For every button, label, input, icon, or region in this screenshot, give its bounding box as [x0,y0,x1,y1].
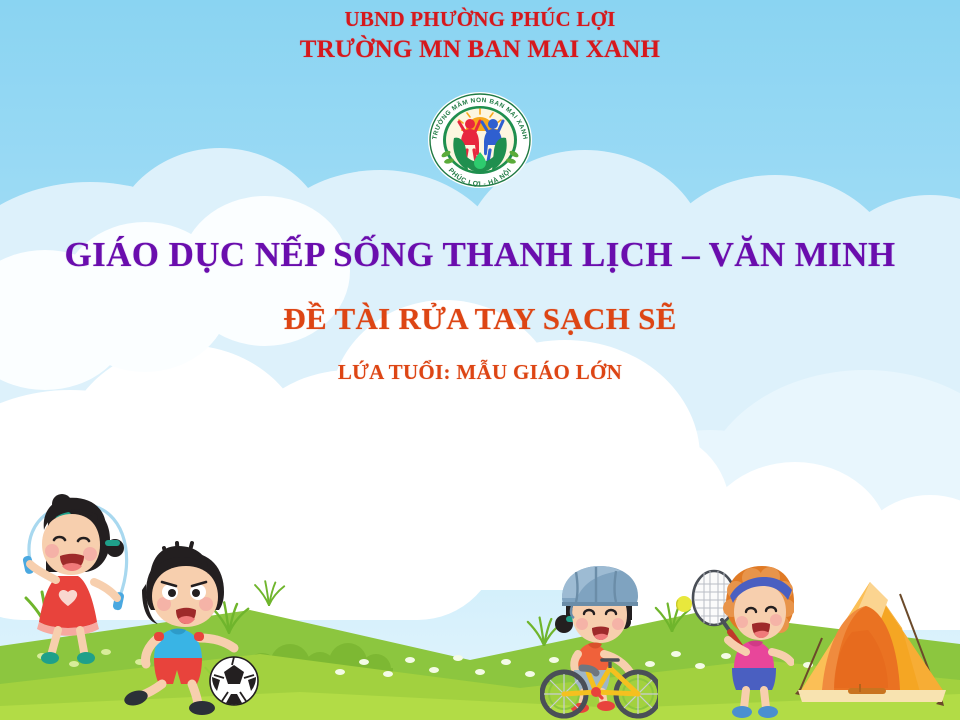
tennis-ball-icon [676,596,692,612]
page-title: GIÁO DỤC NẾP SỐNG THANH LỊCH – VĂN MINH [0,235,960,275]
presentation-slide: UBND PHƯỜNG PHÚC LỢI TRƯỜNG MN BAN MAI X… [0,0,960,720]
header-line-organization: UBND PHƯỜNG PHÚC LỢI [0,7,960,32]
soccer-ball-icon [208,655,260,707]
subject-title: ĐỀ TÀI RỬA TAY SẠCH SẼ [0,301,960,337]
school-logo: TRƯỜNG MẦM NON BAN MAI XANH PHÚC LỢI - H… [418,88,542,192]
grass-tuft-icon [250,578,288,606]
header-line-school: TRƯỜNG MN BAN MAI XANH [0,36,960,64]
age-group-label: LỨA TUỔI: MẪU GIÁO LỚN [0,360,960,385]
camping-tent [792,572,952,720]
girl-playing-badminton [676,560,794,720]
girl-riding-bicycle [540,556,658,720]
